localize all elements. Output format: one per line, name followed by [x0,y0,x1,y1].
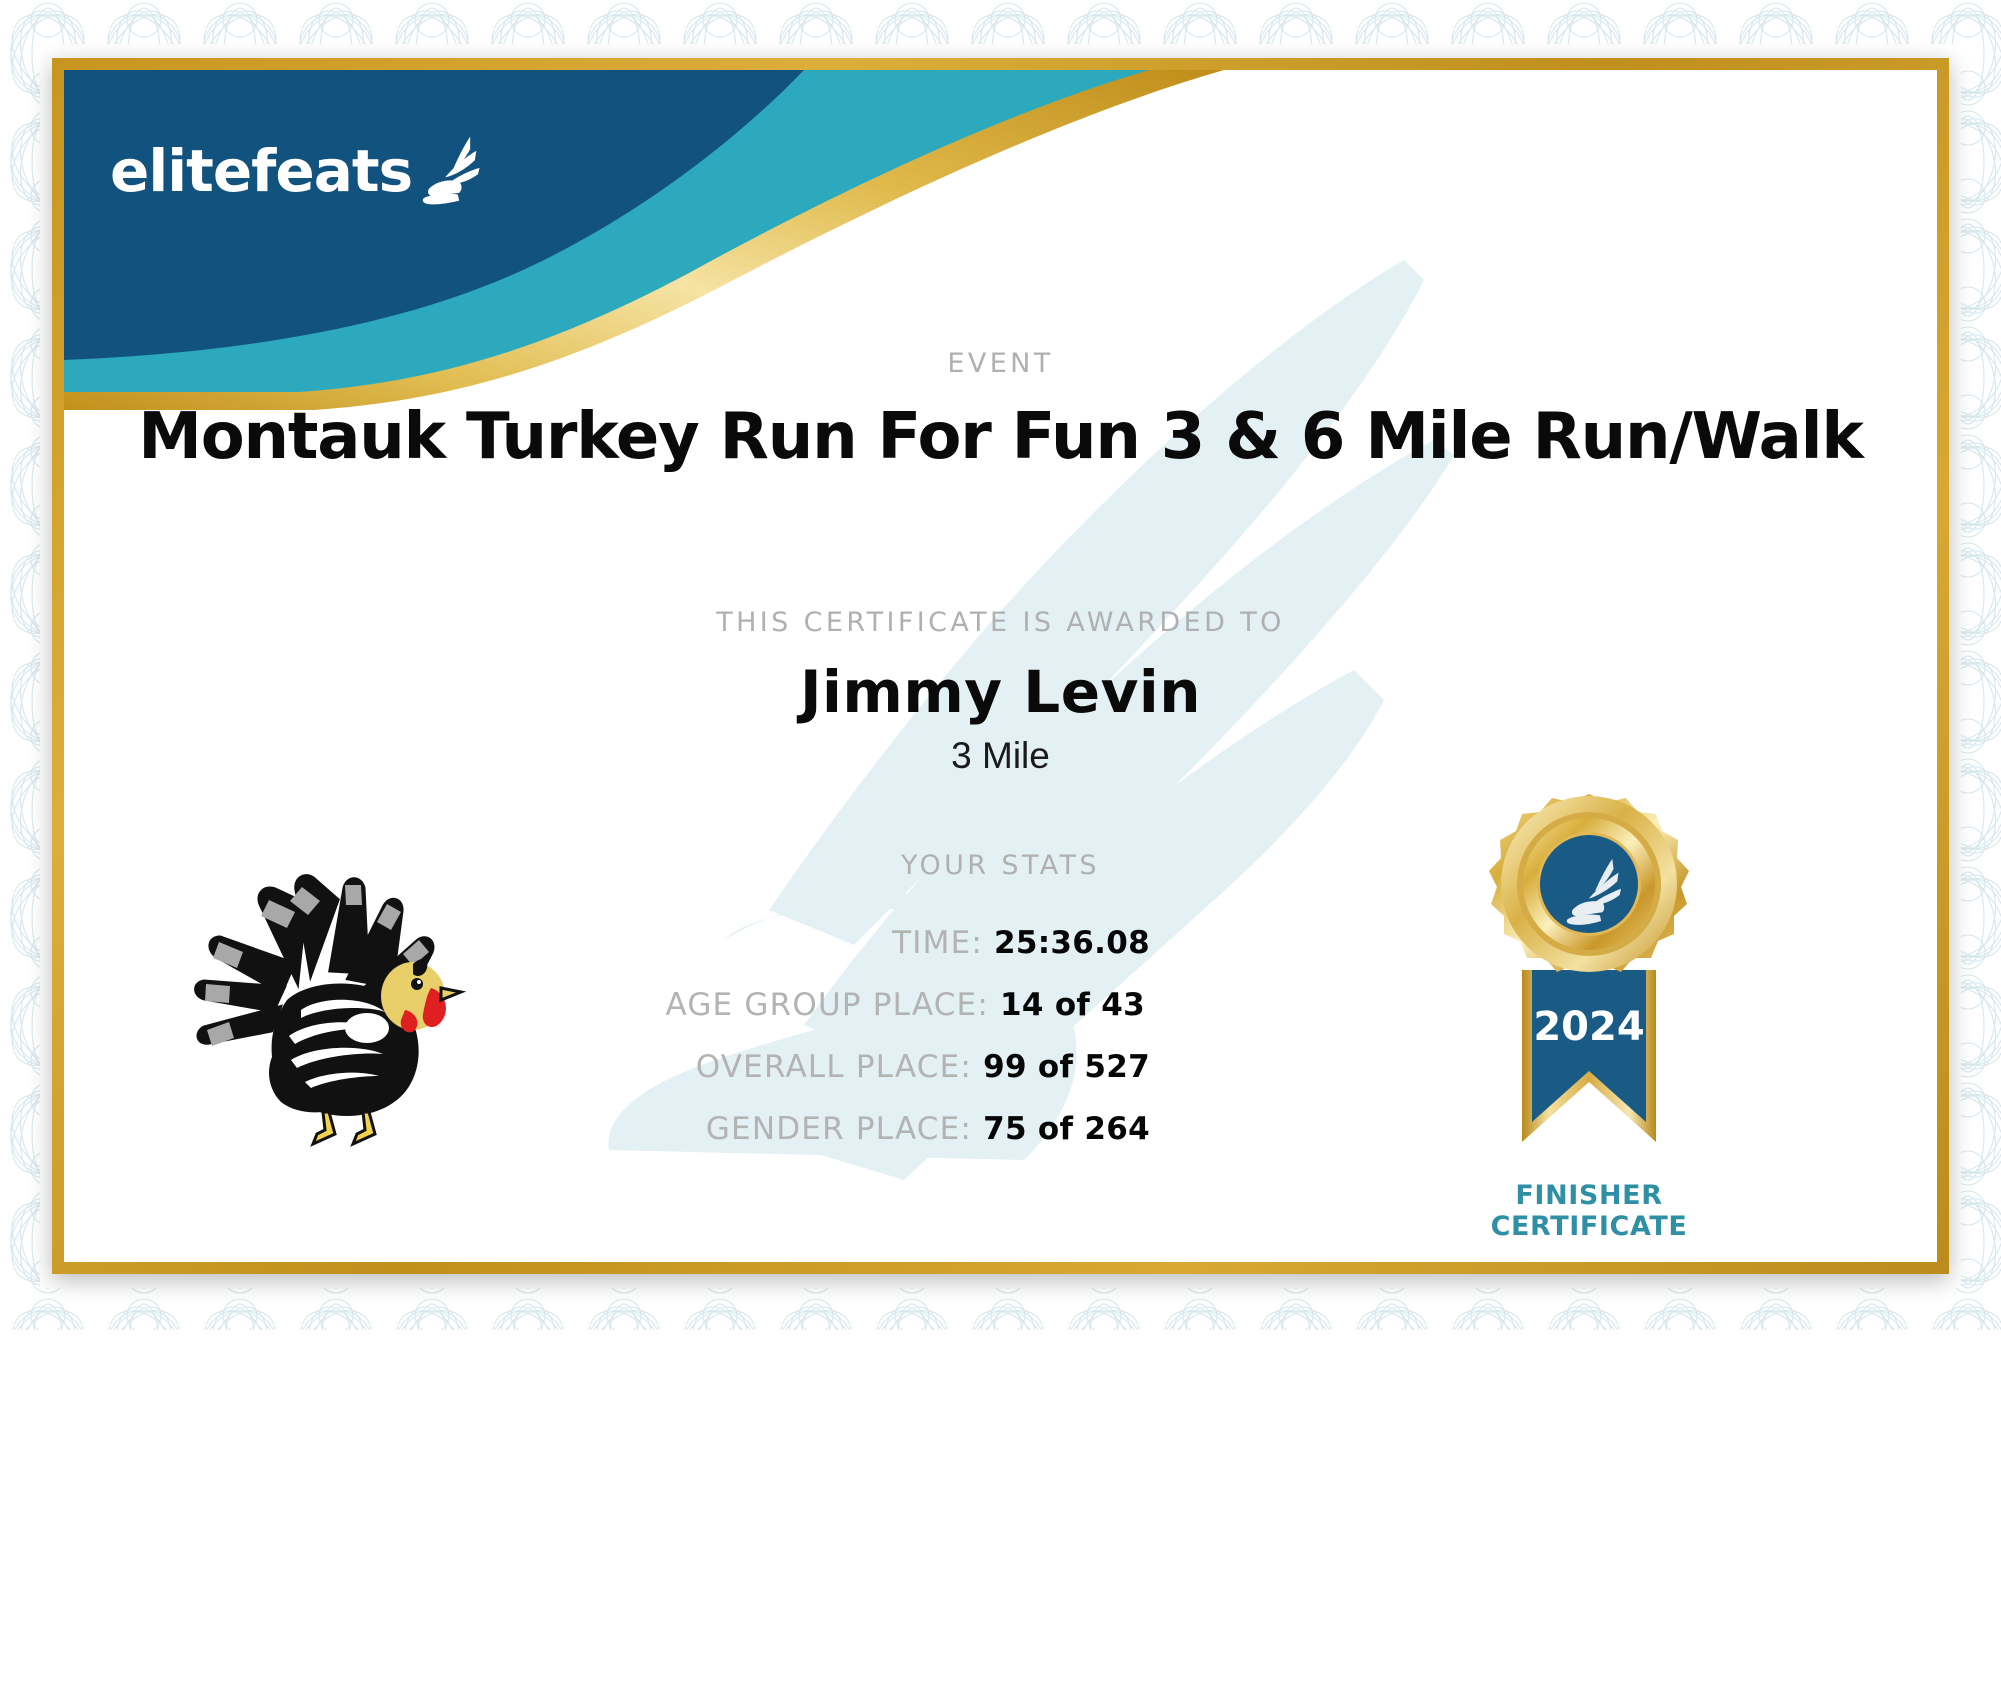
stat-label-overall-place: OVERALL PLACE: [696,1049,972,1085]
logo-wordmark: elitefeats [110,142,412,200]
winged-foot-icon [414,132,492,210]
recipient-name: Jimmy Levin [64,658,1937,726]
event-title: Montauk Turkey Run For Fun 3 & 6 Mile Ru… [64,400,1937,474]
badge-caption: FINISHER CERTIFICATE [1444,1180,1734,1243]
stat-label-gender-place: GENDER PLACE: [706,1111,972,1147]
badge-caption-line2: CERTIFICATE [1444,1211,1734,1242]
finisher-badge: 2024 [1444,790,1734,1260]
badge-caption-line1: FINISHER [1444,1180,1734,1211]
stat-label-time: TIME: [892,925,983,961]
certificate-body: elitefeats EVENT Montauk Turkey Run For … [64,70,1937,1262]
turkey-illustration-icon [169,860,469,1150]
gold-border-frame: elitefeats EVENT Montauk Turkey Run For … [52,58,1949,1274]
badge-year-text: 2024 [1533,1004,1644,1050]
stat-value-overall-place: 99 of 527 [983,1049,1150,1085]
stat-value-time: 25:36.08 [994,925,1150,961]
stat-value-age-group-place: 14 of 43 [1000,987,1150,1023]
stat-label-age-group-place: AGE GROUP PLACE: [665,987,989,1023]
race-distance: 3 Mile [64,735,1937,777]
event-label: EVENT [64,348,1937,379]
certificate-page: elitefeats EVENT Montauk Turkey Run For … [0,0,2001,1700]
awarded-to-label: THIS CERTIFICATE IS AWARDED TO [64,607,1937,638]
gold-medal-ribbon-icon: 2024 [1444,790,1734,1190]
stat-value-gender-place: 75 of 264 [983,1111,1150,1147]
elitefeats-logo: elitefeats [110,132,492,210]
